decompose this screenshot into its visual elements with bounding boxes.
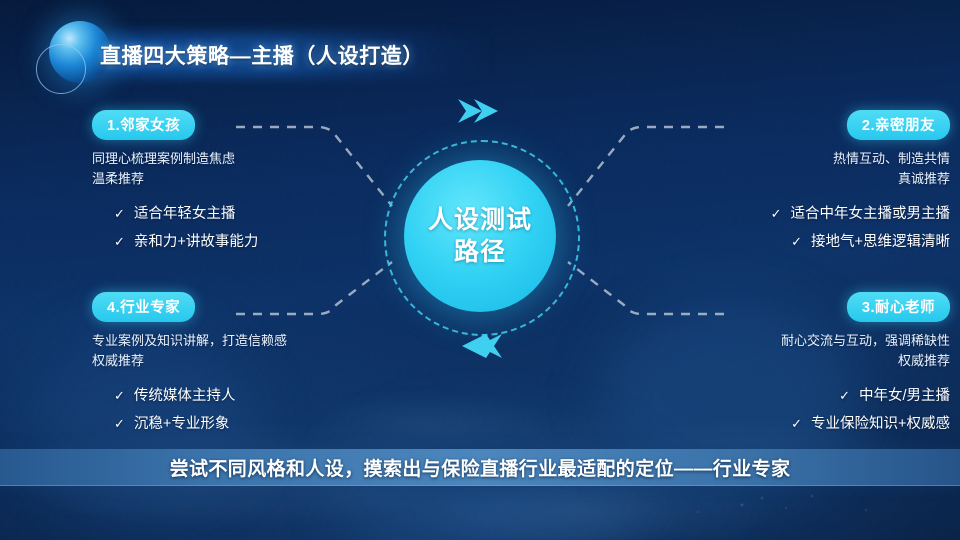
list-item: ✓接地气+思维逻辑清晰 <box>640 228 950 256</box>
check-icon: ✓ <box>114 383 125 408</box>
quadrant-4-description: 专业案例及知识讲解，打造信赖感 权威推荐 <box>92 331 402 371</box>
banner-bottom-rule <box>0 485 960 486</box>
quadrant-3-desc-line-2: 权威推荐 <box>640 351 950 371</box>
quadrant-3-description: 耐心交流与互动，强调稀缺性 权威推荐 <box>640 331 950 371</box>
list-item: ✓沉稳+专业形象 <box>114 410 402 438</box>
bottom-banner: 尝试不同风格和人设，摸索出与保险直播行业最适配的定位——行业专家 <box>0 449 960 486</box>
quadrant-2-pill[interactable]: 2.亲密朋友 <box>847 110 950 140</box>
page-title: 直播四大策略—主播（人设打造） <box>100 40 424 70</box>
quadrant-1-desc-line-2: 温柔推荐 <box>92 169 402 189</box>
quadrant-4-bullet-1: 传统媒体主持人 <box>134 388 236 404</box>
list-item: ✓适合年轻女主播 <box>114 200 402 228</box>
check-icon: ✓ <box>114 201 125 226</box>
quadrant-2: 2.亲密朋友 热情互动、制造共情 真诚推荐 ✓适合中年女主播或男主播 ✓接地气+… <box>640 110 950 256</box>
quadrant-1-desc-line-1: 同理心梳理案例制造焦虑 <box>92 149 402 169</box>
chevron-left-arrow-icon <box>452 332 508 362</box>
quadrant-1-bullets: ✓适合年轻女主播 ✓亲和力+讲故事能力 <box>92 200 402 257</box>
list-item: ✓中年女/男主播 <box>640 382 950 410</box>
list-item: ✓亲和力+讲故事能力 <box>114 228 402 256</box>
quadrant-4-bullets: ✓传统媒体主持人 ✓沉稳+专业形象 <box>92 382 402 439</box>
quadrant-1-description: 同理心梳理案例制造焦虑 温柔推荐 <box>92 149 402 189</box>
check-icon: ✓ <box>791 411 802 436</box>
quadrant-3: 3.耐心老师 耐心交流与互动，强调稀缺性 权威推荐 ✓中年女/男主播 ✓专业保险… <box>640 292 950 438</box>
quadrant-2-bullet-2: 接地气+思维逻辑清晰 <box>811 234 950 250</box>
list-item: ✓专业保险知识+权威感 <box>640 410 950 438</box>
quadrant-3-bullets: ✓中年女/男主播 ✓专业保险知识+权威感 <box>640 382 950 439</box>
quadrant-1-bullet-1: 适合年轻女主播 <box>134 206 236 222</box>
check-icon: ✓ <box>114 411 125 436</box>
quadrant-1-pill[interactable]: 1.邻家女孩 <box>92 110 195 140</box>
quadrant-3-desc-line-1: 耐心交流与互动，强调稀缺性 <box>640 331 950 351</box>
quadrant-4: 4.行业专家 专业案例及知识讲解，打造信赖感 权威推荐 ✓传统媒体主持人 ✓沉稳… <box>92 292 402 438</box>
quadrant-3-bullet-1: 中年女/男主播 <box>859 388 950 404</box>
center-circle: 人设测试 路径 <box>404 160 556 312</box>
center-label-line1: 人设测试 <box>428 204 532 236</box>
check-icon: ✓ <box>839 383 850 408</box>
check-icon: ✓ <box>771 201 782 226</box>
quadrant-1: 1.邻家女孩 同理心梳理案例制造焦虑 温柔推荐 ✓适合年轻女主播 ✓亲和力+讲故… <box>92 110 402 256</box>
quadrant-3-pill[interactable]: 3.耐心老师 <box>847 292 950 322</box>
quadrant-1-bullet-2: 亲和力+讲故事能力 <box>134 234 258 250</box>
quadrant-2-description: 热情互动、制造共情 真诚推荐 <box>640 149 950 189</box>
quadrant-2-desc-line-1: 热情互动、制造共情 <box>640 149 950 169</box>
slide-root: 直播四大策略—主播（人设打造） 人设测试 路径 1.邻家女孩 同理心梳理案例制造… <box>0 0 960 540</box>
check-icon: ✓ <box>114 229 125 254</box>
quadrant-2-desc-line-2: 真诚推荐 <box>640 169 950 189</box>
check-icon: ✓ <box>791 229 802 254</box>
quadrant-4-desc-line-2: 权威推荐 <box>92 351 402 371</box>
ring-outline-icon <box>36 44 86 94</box>
list-item: ✓传统媒体主持人 <box>114 382 402 410</box>
quadrant-4-bullet-2: 沉稳+专业形象 <box>134 416 229 432</box>
quadrant-3-bullet-2: 专业保险知识+权威感 <box>811 416 950 432</box>
bottom-banner-text: 尝试不同风格和人设，摸索出与保险直播行业最适配的定位——行业专家 <box>170 454 791 481</box>
quadrant-2-bullets: ✓适合中年女主播或男主播 ✓接地气+思维逻辑清晰 <box>640 200 950 257</box>
center-label-line2: 路径 <box>454 236 506 268</box>
list-item: ✓适合中年女主播或男主播 <box>640 200 950 228</box>
quadrant-4-desc-line-1: 专业案例及知识讲解，打造信赖感 <box>92 331 402 351</box>
chevron-right-arrow-icon <box>452 97 508 127</box>
quadrant-2-bullet-1: 适合中年女主播或男主播 <box>791 206 951 222</box>
quadrant-4-pill[interactable]: 4.行业专家 <box>92 292 195 322</box>
